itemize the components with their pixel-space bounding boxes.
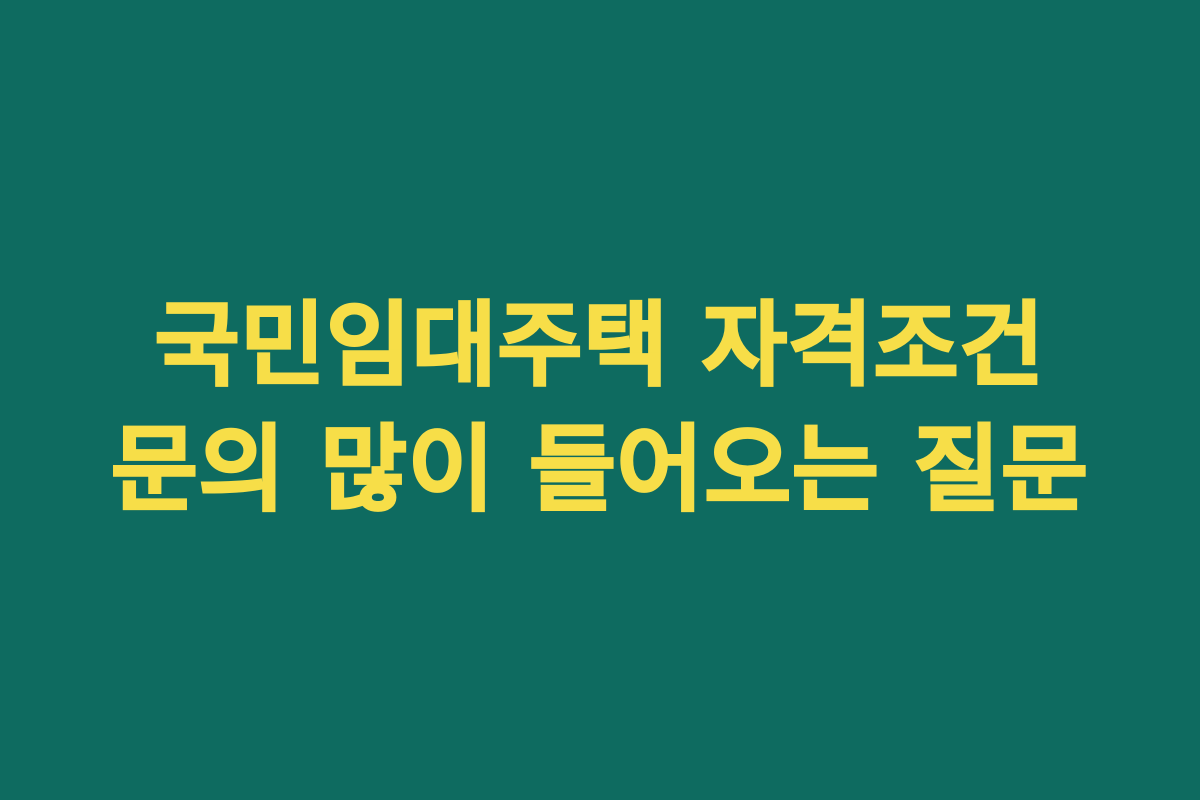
headline-line-1: 국민임대주택 자격조건 xyxy=(155,285,1046,407)
headline-block: 국민임대주택 자격조건 문의 많이 들어오는 질문 xyxy=(111,285,1089,532)
headline-line-2: 문의 많이 들어오는 질문 xyxy=(111,408,1089,533)
banner-canvas: 국민임대주택 자격조건 문의 많이 들어오는 질문 xyxy=(0,0,1200,800)
